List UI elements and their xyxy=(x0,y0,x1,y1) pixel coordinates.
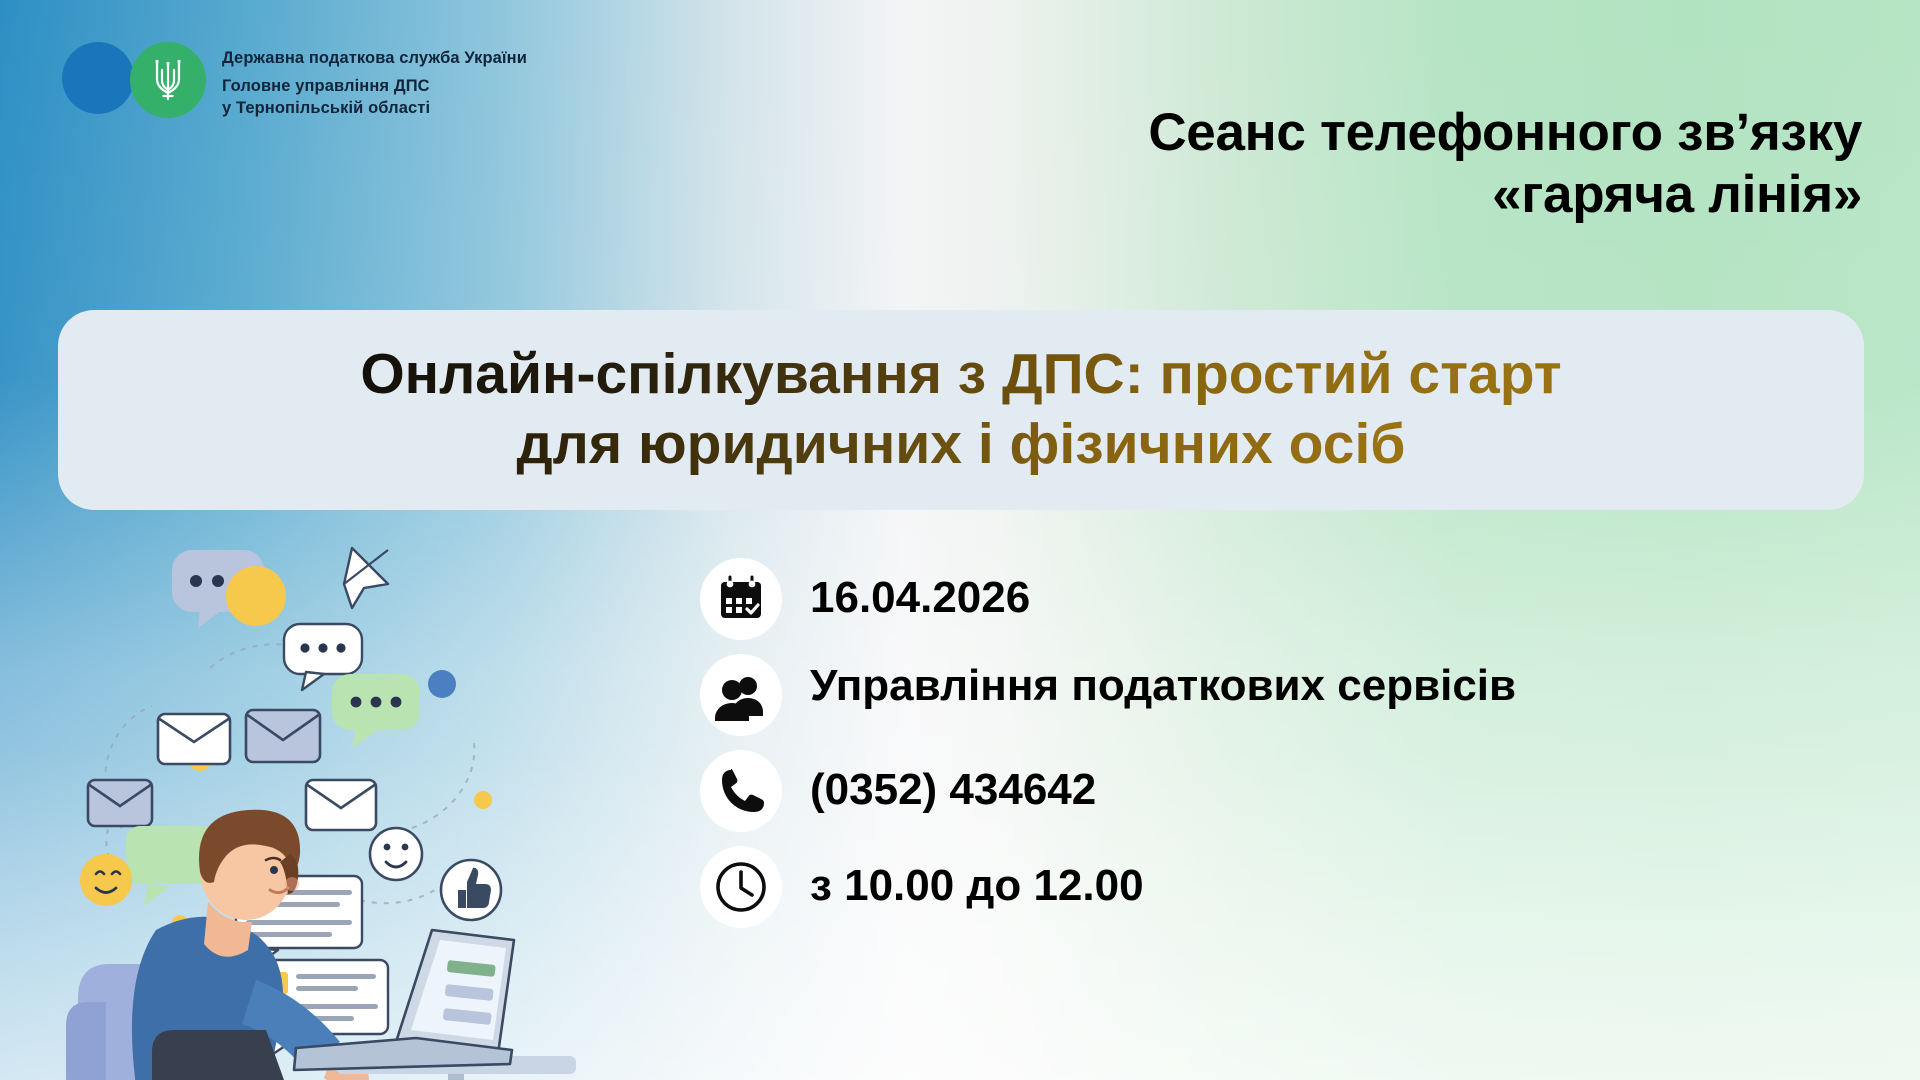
dot-blue xyxy=(428,670,456,698)
chat-bubble-green-dots xyxy=(332,674,420,748)
page-title-line-2: «гаряча лінія» xyxy=(922,164,1862,226)
calendar-icon xyxy=(700,558,782,640)
page-title-line-1: Сеанс телефонного зв’язку xyxy=(922,102,1862,164)
phone-icon xyxy=(700,750,782,832)
ukraine-trident-icon xyxy=(153,57,183,103)
headline-line-2: для юридичних і фізичних осіб xyxy=(516,410,1405,480)
headline-banner: Онлайн-спілкування з ДПС: простий старт … xyxy=(58,310,1864,510)
detail-date-text: 16.04.2026 xyxy=(810,558,1030,624)
event-details-list: 16.04.2026 Управління податкових сервісі… xyxy=(700,558,1820,928)
paper-plane-icon xyxy=(344,548,388,608)
chat-bubble-yellow xyxy=(226,566,286,626)
logo-green-circle-icon xyxy=(130,42,206,118)
smiley-icon-1 xyxy=(80,854,132,906)
clock-icon xyxy=(700,846,782,928)
logo-blue-circle-icon xyxy=(62,42,134,114)
smiley-icon-2 xyxy=(370,828,422,880)
logo-line-2: Головне управління ДПС xyxy=(222,76,527,98)
logo-marks xyxy=(62,40,212,114)
detail-row-date: 16.04.2026 xyxy=(700,558,1820,640)
thumbs-up-icon xyxy=(441,860,501,920)
person-at-laptop-illustration xyxy=(60,528,580,1080)
dot-yellow-right xyxy=(474,791,492,809)
organisation-logo: Державна податкова служба України Головн… xyxy=(62,40,527,120)
detail-time-text: з 10.00 до 12.00 xyxy=(810,846,1144,912)
logo-text-block: Державна податкова служба України Головн… xyxy=(222,40,527,120)
detail-row-time: з 10.00 до 12.00 xyxy=(700,846,1820,928)
envelope-icon-1 xyxy=(158,714,230,764)
headline-line-1: Онлайн-спілкування з ДПС: простий старт xyxy=(360,340,1561,410)
envelope-icon-2 xyxy=(246,710,320,762)
logo-line-3: у Тернопільській області xyxy=(222,98,527,120)
detail-department-text: Управління податкових сервісів xyxy=(810,654,1516,712)
detail-row-department: Управління податкових сервісів xyxy=(700,654,1820,736)
envelope-icon-4 xyxy=(306,780,376,830)
page-title: Сеанс телефонного зв’язку «гаряча лінія» xyxy=(922,102,1862,226)
detail-phone-text: (0352) 434642 xyxy=(810,750,1096,816)
detail-row-phone: (0352) 434642 xyxy=(700,750,1820,832)
logo-line-1: Державна податкова служба України xyxy=(222,48,527,70)
people-icon xyxy=(700,654,782,736)
envelope-icon-3 xyxy=(88,780,152,826)
